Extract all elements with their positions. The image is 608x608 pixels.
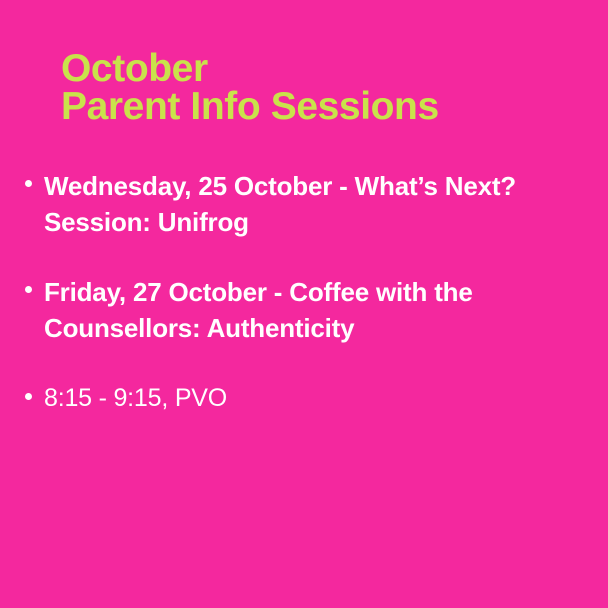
bullet-dot-icon — [25, 180, 32, 187]
list-item-line-2: Session: Unifrog — [44, 204, 584, 240]
page-title-line-2: Parent Info Sessions — [61, 88, 561, 126]
list-item: Friday, 27 October - Coffee with the Cou… — [24, 274, 584, 346]
list-item: 8:15 - 9:15, PVO — [24, 380, 584, 416]
page-title: October Parent Info Sessions — [61, 50, 561, 126]
list-item-line-1: Wednesday, 25 October - What’s Next? — [44, 168, 584, 204]
session-list: Wednesday, 25 October - What’s Next? Ses… — [24, 168, 584, 416]
list-item-line-1: 8:15 - 9:15, PVO — [44, 380, 584, 416]
page-title-line-1: October — [61, 50, 561, 88]
bullet-dot-icon — [25, 286, 32, 293]
poster-canvas: October Parent Info Sessions Wednesday, … — [0, 0, 608, 608]
bullet-dot-icon — [25, 393, 32, 400]
list-item: Wednesday, 25 October - What’s Next? Ses… — [24, 168, 584, 240]
list-item-line-1: Friday, 27 October - Coffee with the — [44, 274, 584, 310]
list-item-line-2: Counsellors: Authenticity — [44, 310, 584, 346]
